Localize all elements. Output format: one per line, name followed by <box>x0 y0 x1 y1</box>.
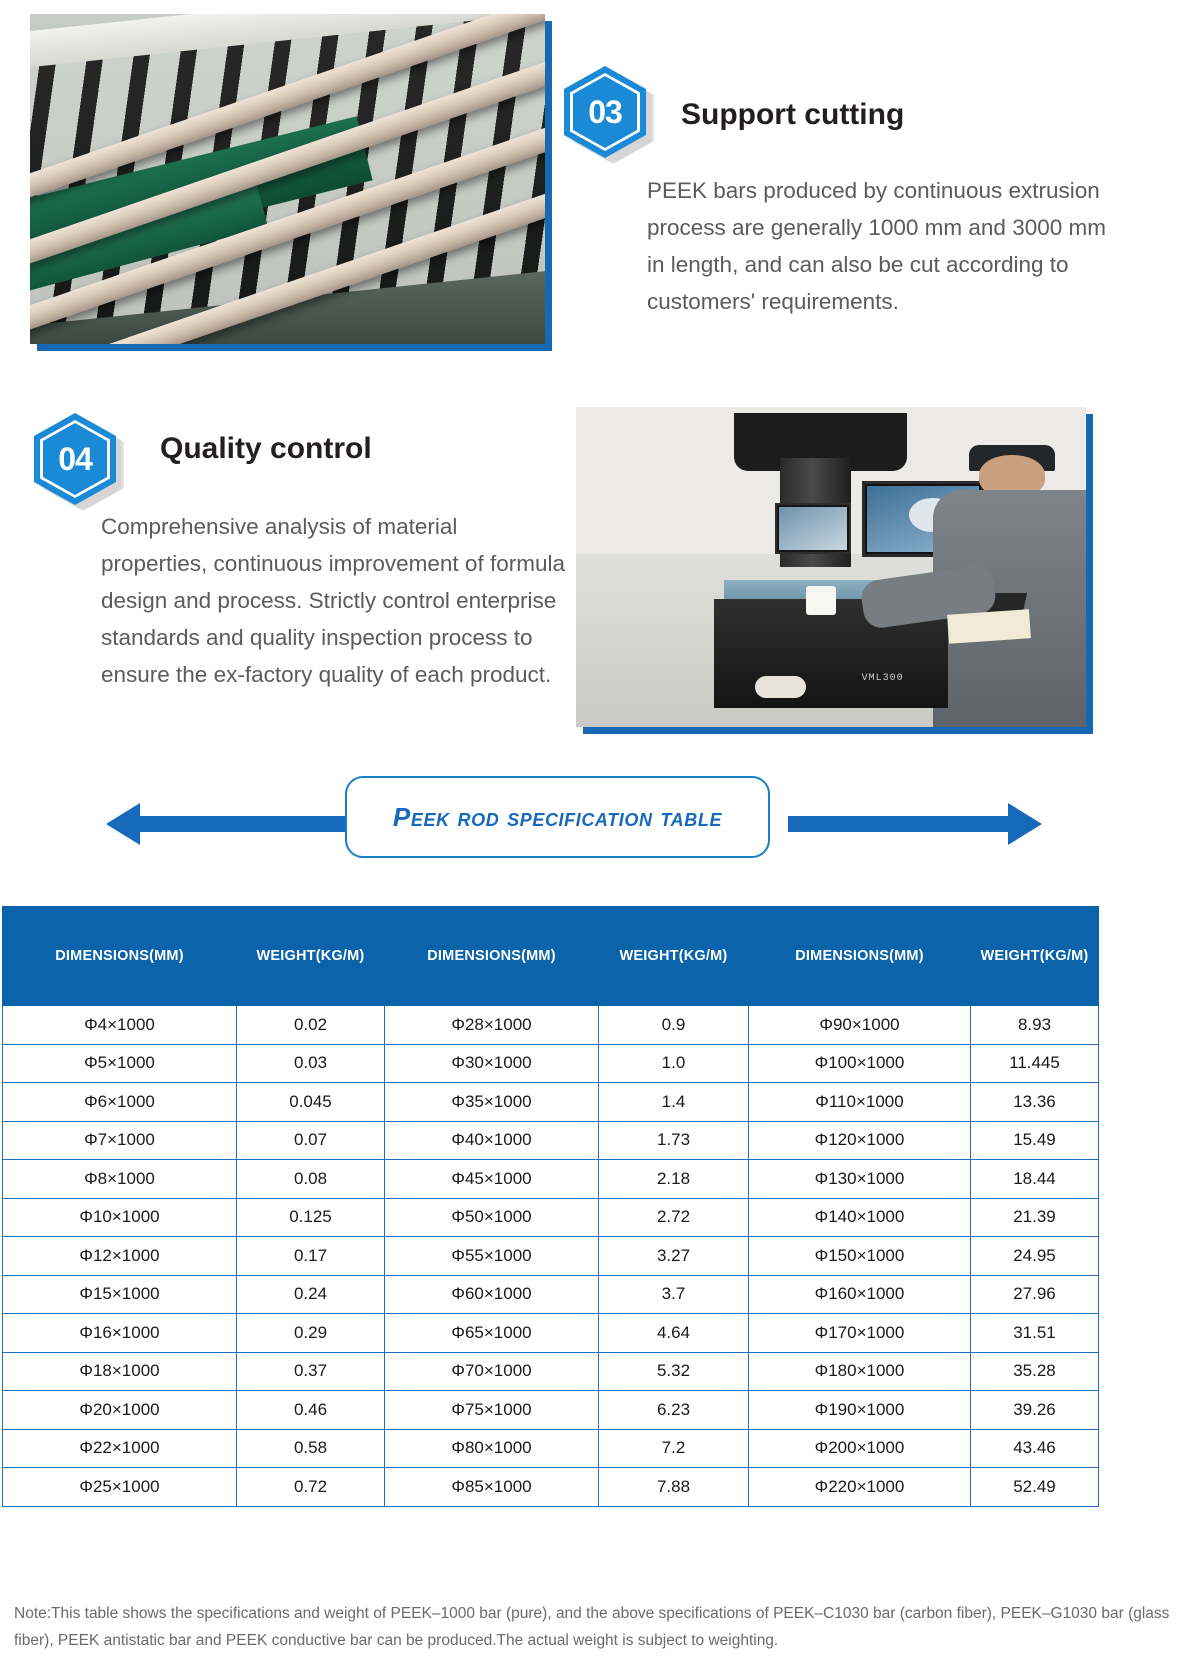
cell-weight: 1.4 <box>599 1083 749 1122</box>
table-body: Φ4×10000.02Φ28×10000.9Φ90×10008.93Φ5×100… <box>3 1006 1099 1507</box>
cell-weight: 52.49 <box>971 1468 1099 1507</box>
table-note: Note:This table shows the specifications… <box>14 1600 1189 1654</box>
cell-dimensions: Φ130×1000 <box>749 1160 971 1199</box>
cell-weight: 39.26 <box>971 1391 1099 1430</box>
cell-weight: 0.02 <box>237 1006 385 1045</box>
cell-dimensions: Φ160×1000 <box>749 1275 971 1314</box>
cell-weight: 5.32 <box>599 1352 749 1391</box>
cell-dimensions: Φ80×1000 <box>385 1429 599 1468</box>
column-header-dimensions-1: DIMENSIONS(MM) <box>3 907 237 1006</box>
cell-dimensions: Φ12×1000 <box>3 1237 237 1276</box>
column-header-weight-1: WEIGHT(KG/M) <box>237 907 385 1006</box>
table-row: Φ22×10000.58Φ80×10007.2Φ200×100043.46 <box>3 1429 1099 1468</box>
cell-dimensions: Φ45×1000 <box>385 1160 599 1199</box>
spec-table-wrap: DIMENSIONS(MM) WEIGHT(KG/M) DIMENSIONS(M… <box>2 906 1098 1507</box>
step-number: 04 <box>58 443 92 475</box>
sample-part <box>806 586 837 615</box>
column-header-weight-2: WEIGHT(KG/M) <box>599 907 749 1006</box>
cell-weight: 0.58 <box>237 1429 385 1468</box>
cell-weight: 24.95 <box>971 1237 1099 1276</box>
cell-weight: 18.44 <box>971 1160 1099 1199</box>
step-number: 03 <box>588 96 622 128</box>
table-head: DIMENSIONS(MM) WEIGHT(KG/M) DIMENSIONS(M… <box>3 907 1099 1006</box>
cell-dimensions: Φ18×1000 <box>3 1352 237 1391</box>
cell-dimensions: Φ70×1000 <box>385 1352 599 1391</box>
machine-model-label: VML300 <box>862 673 904 684</box>
cell-dimensions: Φ90×1000 <box>749 1006 971 1045</box>
table-row: Φ12×10000.17Φ55×10003.27Φ150×100024.95 <box>3 1237 1099 1276</box>
cell-weight: 0.17 <box>237 1237 385 1276</box>
cell-dimensions: Φ150×1000 <box>749 1237 971 1276</box>
section-body-04: Comprehensive analysis of material prope… <box>101 508 566 693</box>
cell-dimensions: Φ55×1000 <box>385 1237 599 1276</box>
cell-dimensions: Φ16×1000 <box>3 1314 237 1353</box>
cell-weight: 21.39 <box>971 1198 1099 1237</box>
cell-dimensions: Φ50×1000 <box>385 1198 599 1237</box>
cell-weight: 4.64 <box>599 1314 749 1353</box>
cell-weight: 2.72 <box>599 1198 749 1237</box>
table-row: Φ10×10000.125Φ50×10002.72Φ140×100021.39 <box>3 1198 1099 1237</box>
cell-dimensions: Φ6×1000 <box>3 1083 237 1122</box>
table-row: Φ4×10000.02Φ28×10000.9Φ90×10008.93 <box>3 1006 1099 1045</box>
secondary-monitor-screen <box>779 507 848 550</box>
cell-weight: 0.37 <box>237 1352 385 1391</box>
cell-dimensions: Φ30×1000 <box>385 1044 599 1083</box>
banner-title: Peek rod specification table <box>393 802 722 833</box>
cell-dimensions: Φ170×1000 <box>749 1314 971 1353</box>
step-badge-03: 03 <box>564 66 646 158</box>
arrow-left-icon <box>106 803 140 845</box>
secondary-monitor <box>775 503 852 554</box>
section-title-03: Support cutting <box>681 98 904 132</box>
cell-dimensions: Φ20×1000 <box>3 1391 237 1430</box>
cell-dimensions: Φ40×1000 <box>385 1121 599 1160</box>
cell-dimensions: Φ85×1000 <box>385 1468 599 1507</box>
arrow-right-icon <box>1008 803 1042 845</box>
table-row: Φ6×10000.045Φ35×10001.4Φ110×100013.36 <box>3 1083 1099 1122</box>
arrow-right-shaft <box>788 816 1008 832</box>
table-row: Φ16×10000.29Φ65×10004.64Φ170×100031.51 <box>3 1314 1099 1353</box>
cell-dimensions: Φ25×1000 <box>3 1468 237 1507</box>
cell-dimensions: Φ180×1000 <box>749 1352 971 1391</box>
cell-dimensions: Φ75×1000 <box>385 1391 599 1430</box>
cell-dimensions: Φ140×1000 <box>749 1198 971 1237</box>
table-row: Φ20×10000.46Φ75×10006.23Φ190×100039.26 <box>3 1391 1099 1430</box>
table-row: Φ8×10000.08Φ45×10002.18Φ130×100018.44 <box>3 1160 1099 1199</box>
section-title-04: Quality control <box>160 432 372 466</box>
cell-weight: 3.7 <box>599 1275 749 1314</box>
cell-dimensions: Φ4×1000 <box>3 1006 237 1045</box>
table-row: Φ18×10000.37Φ70×10005.32Φ180×100035.28 <box>3 1352 1099 1391</box>
cell-weight: 1.0 <box>599 1044 749 1083</box>
cell-weight: 0.72 <box>237 1468 385 1507</box>
page-root: 03 Support cutting PEEK bars produced by… <box>0 0 1200 1668</box>
cell-dimensions: Φ65×1000 <box>385 1314 599 1353</box>
photo-peek-rods-conveyor <box>30 14 545 344</box>
photo-quality-inspection: VML300 <box>576 407 1086 727</box>
cell-weight: 13.36 <box>971 1083 1099 1122</box>
cell-dimensions: Φ60×1000 <box>385 1275 599 1314</box>
cell-dimensions: Φ28×1000 <box>385 1006 599 1045</box>
cell-dimensions: Φ15×1000 <box>3 1275 237 1314</box>
cell-weight: 0.24 <box>237 1275 385 1314</box>
cell-weight: 0.03 <box>237 1044 385 1083</box>
cell-dimensions: Φ100×1000 <box>749 1044 971 1083</box>
cell-weight: 0.125 <box>237 1198 385 1237</box>
cell-dimensions: Φ8×1000 <box>3 1160 237 1199</box>
column-header-dimensions-2: DIMENSIONS(MM) <box>385 907 599 1006</box>
table-row: Φ15×10000.24Φ60×10003.7Φ160×100027.96 <box>3 1275 1099 1314</box>
cell-weight: 8.93 <box>971 1006 1099 1045</box>
cell-dimensions: Φ35×1000 <box>385 1083 599 1122</box>
paper-sheet <box>947 609 1030 643</box>
table-row: Φ25×10000.72Φ85×10007.88Φ220×100052.49 <box>3 1468 1099 1507</box>
cell-dimensions: Φ190×1000 <box>749 1391 971 1430</box>
cell-weight: 7.88 <box>599 1468 749 1507</box>
cell-weight: 0.045 <box>237 1083 385 1122</box>
cell-weight: 43.46 <box>971 1429 1099 1468</box>
cell-weight: 6.23 <box>599 1391 749 1430</box>
cell-weight: 3.27 <box>599 1237 749 1276</box>
cell-dimensions: Φ5×1000 <box>3 1044 237 1083</box>
cell-weight: 0.9 <box>599 1006 749 1045</box>
cell-dimensions: Φ10×1000 <box>3 1198 237 1237</box>
cell-weight: 0.46 <box>237 1391 385 1430</box>
banner-title-box: Peek rod specification table <box>345 776 770 858</box>
cell-dimensions: Φ220×1000 <box>749 1468 971 1507</box>
table-header-row: DIMENSIONS(MM) WEIGHT(KG/M) DIMENSIONS(M… <box>3 907 1099 1006</box>
cell-weight: 1.73 <box>599 1121 749 1160</box>
cell-dimensions: Φ110×1000 <box>749 1083 971 1122</box>
cell-weight: 2.18 <box>599 1160 749 1199</box>
step-badge-04: 04 <box>34 413 116 505</box>
cell-dimensions: Φ120×1000 <box>749 1121 971 1160</box>
table-row: Φ5×10000.03Φ30×10001.0Φ100×100011.445 <box>3 1044 1099 1083</box>
cell-weight: 11.445 <box>971 1044 1099 1083</box>
cell-dimensions: Φ200×1000 <box>749 1429 971 1468</box>
section-support-cutting: 03 Support cutting PEEK bars produced by… <box>0 0 1200 370</box>
peek-roller-sample <box>755 676 806 698</box>
arrow-left-shaft <box>138 816 378 832</box>
table-row: Φ7×10000.07Φ40×10001.73Φ120×100015.49 <box>3 1121 1099 1160</box>
peek-rod-spec-table: DIMENSIONS(MM) WEIGHT(KG/M) DIMENSIONS(M… <box>2 906 1099 1507</box>
cell-dimensions: Φ7×1000 <box>3 1121 237 1160</box>
column-header-dimensions-3: DIMENSIONS(MM) <box>749 907 971 1006</box>
column-header-weight-3: WEIGHT(KG/M) <box>971 907 1099 1006</box>
cell-dimensions: Φ22×1000 <box>3 1429 237 1468</box>
cell-weight: 31.51 <box>971 1314 1099 1353</box>
cell-weight: 15.49 <box>971 1121 1099 1160</box>
cell-weight: 35.28 <box>971 1352 1099 1391</box>
cell-weight: 0.08 <box>237 1160 385 1199</box>
cell-weight: 0.29 <box>237 1314 385 1353</box>
section-body-03: PEEK bars produced by continuous extrusi… <box>647 172 1117 320</box>
cell-weight: 27.96 <box>971 1275 1099 1314</box>
cell-weight: 0.07 <box>237 1121 385 1160</box>
cell-weight: 7.2 <box>599 1429 749 1468</box>
